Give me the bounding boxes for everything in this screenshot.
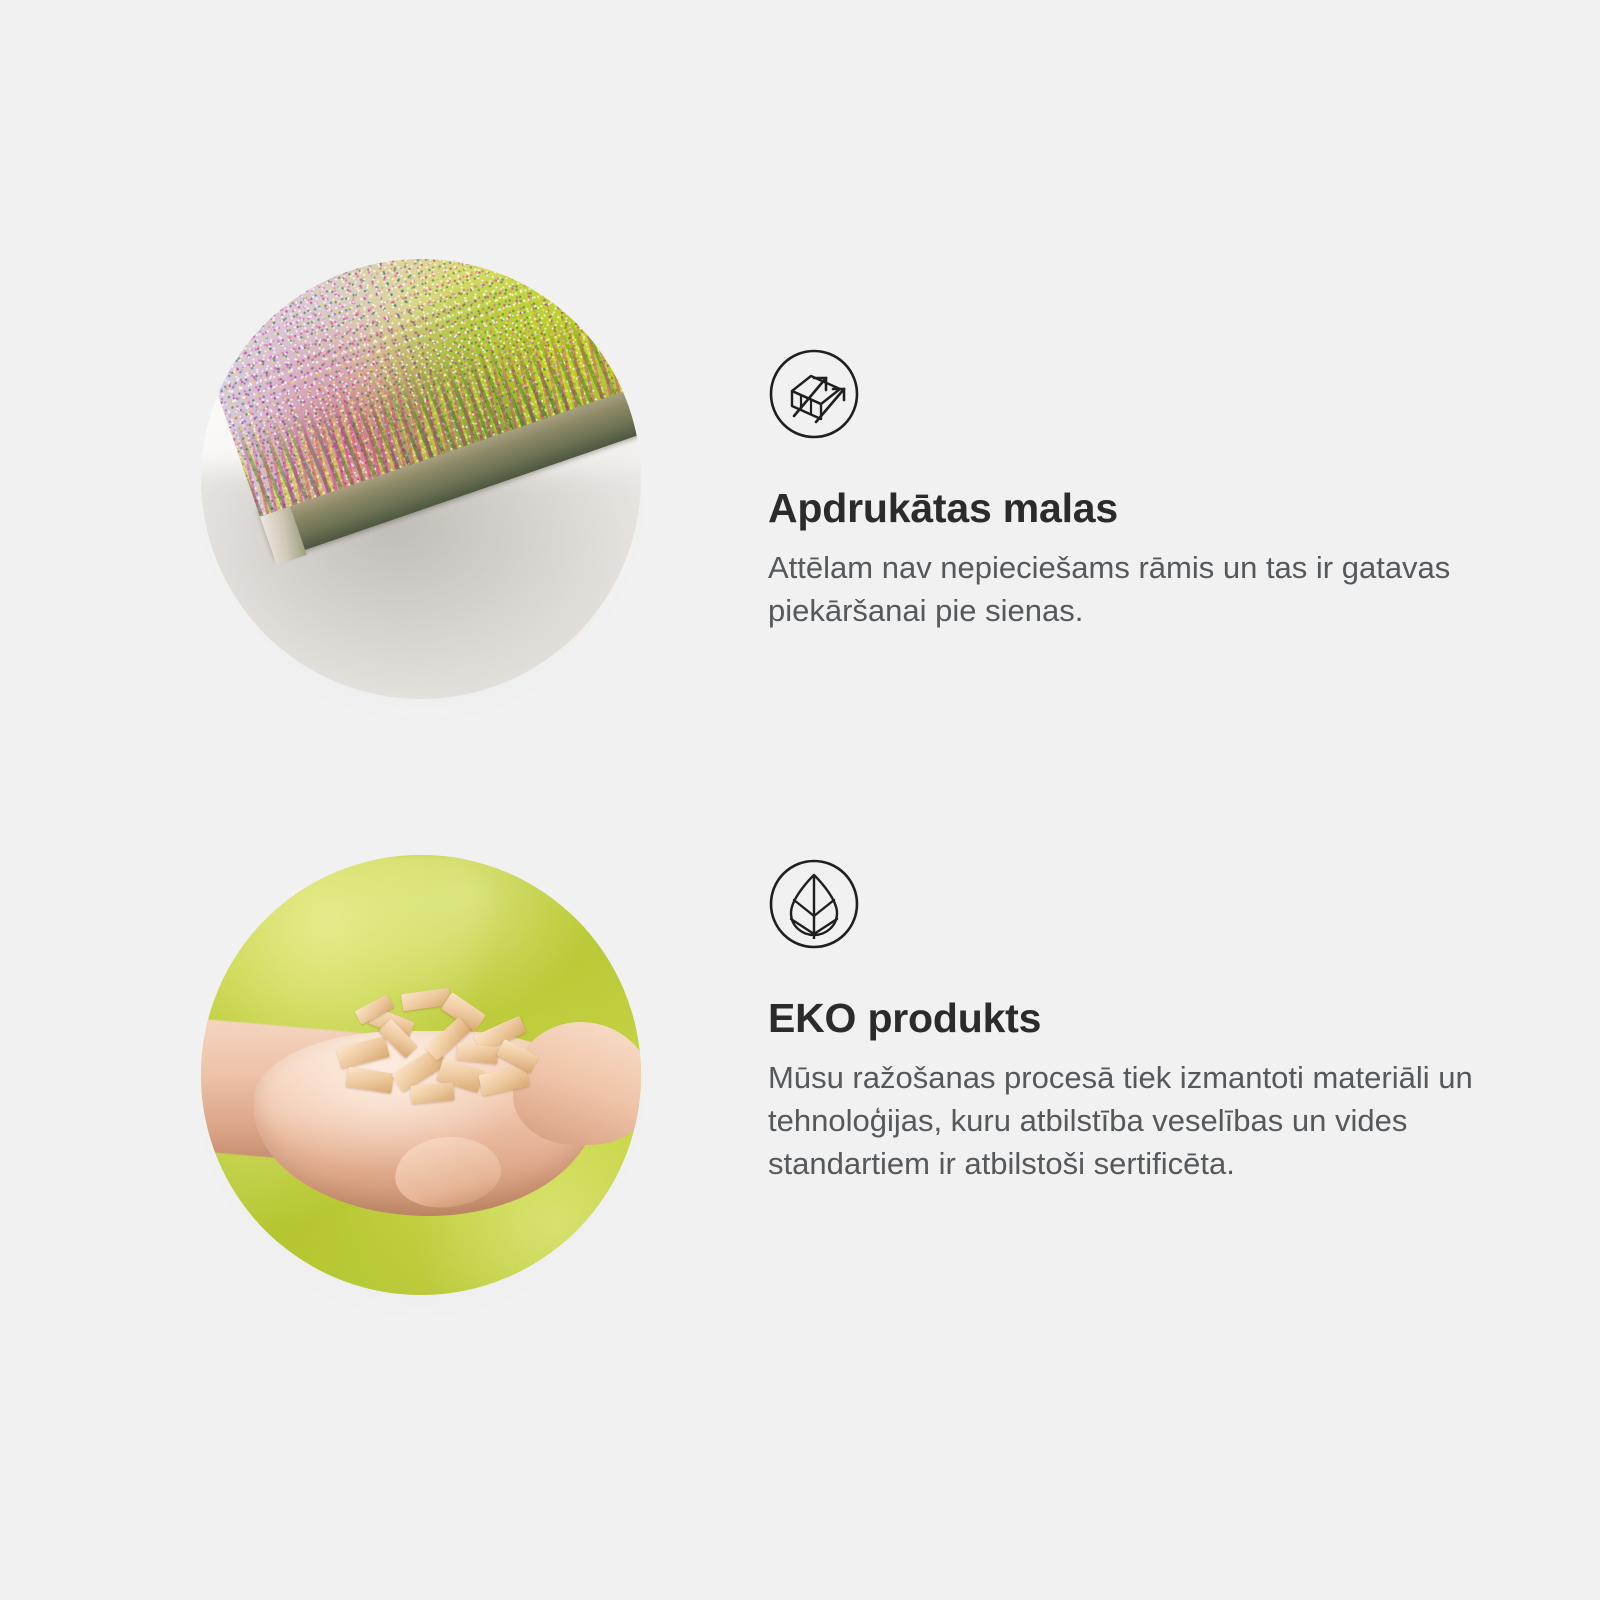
feature-description: Mūsu ražošanas procesā tiek izmantoti ma… [768, 1057, 1474, 1185]
wood-chips-in-hands-photo [201, 855, 641, 1295]
circular-image-mask [201, 259, 641, 699]
circular-image-mask [201, 855, 641, 1295]
wood-chips-pile [324, 983, 553, 1124]
feature-title: EKO produkts [768, 996, 1508, 1041]
canvas-corner-photo [201, 259, 641, 699]
feature-title: Apdrukātas malas [768, 486, 1508, 531]
canvas-scene [201, 259, 641, 699]
feature-block-printed-edges: Apdrukātas malas Attēlam nav nepieciešam… [0, 0, 1600, 800]
leaf-icon [768, 858, 860, 950]
feature-text-column: EKO produkts Mūsu ražošanas procesā tiek… [768, 858, 1508, 1185]
eco-scene [201, 855, 641, 1295]
feature-text-column: Apdrukātas malas Attēlam nav nepieciešam… [768, 348, 1508, 633]
feature-infographic-page: Apdrukātas malas Attēlam nav nepieciešam… [0, 0, 1600, 1600]
printed-edges-icon [768, 348, 860, 440]
feature-block-eco-product: EKO produkts Mūsu ražošanas procesā tiek… [0, 800, 1600, 1600]
feature-description: Attēlam nav nepieciešams rāmis un tas ir… [768, 547, 1474, 633]
